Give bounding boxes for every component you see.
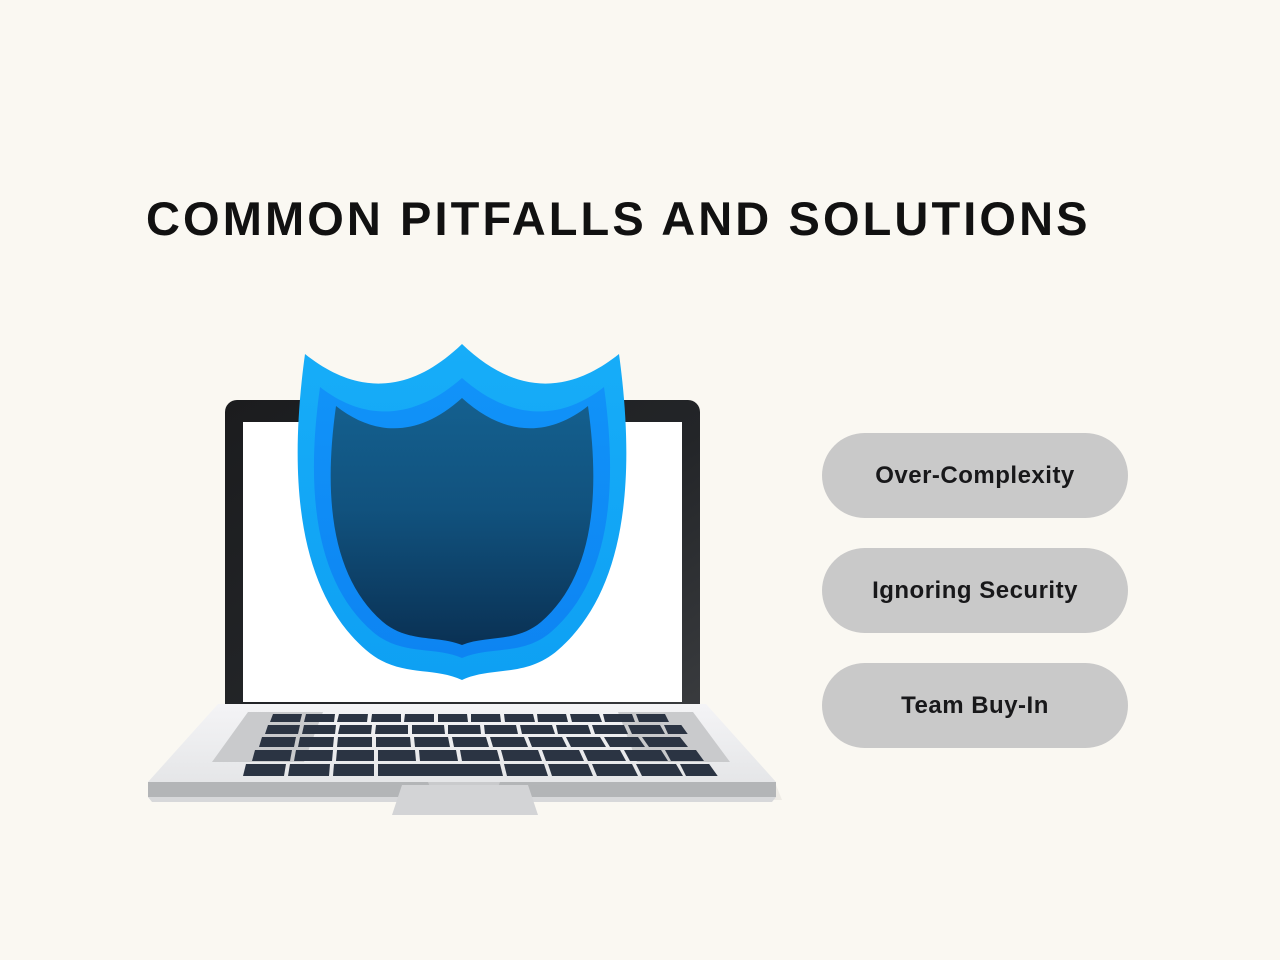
- chip-team-buy-in[interactable]: Team Buy-In: [822, 663, 1128, 748]
- security-shield-icon: [298, 344, 627, 680]
- pitfalls-chip-list: Over-Complexity Ignoring Security Team B…: [822, 433, 1128, 748]
- chip-over-complexity[interactable]: Over-Complexity: [822, 433, 1128, 518]
- trackpad: [392, 785, 538, 815]
- chip-label: Ignoring Security: [872, 577, 1078, 605]
- chip-label: Over-Complexity: [875, 462, 1075, 490]
- chip-ignoring-security[interactable]: Ignoring Security: [822, 548, 1128, 633]
- page-title: COMMON PITFALLS AND SOLUTIONS: [146, 191, 1136, 247]
- chip-label: Team Buy-In: [901, 692, 1049, 720]
- slide-canvas: COMMON PITFALLS AND SOLUTIONS: [0, 0, 1280, 960]
- laptop-base: [148, 704, 782, 815]
- laptop-shield-illustration: [140, 330, 800, 820]
